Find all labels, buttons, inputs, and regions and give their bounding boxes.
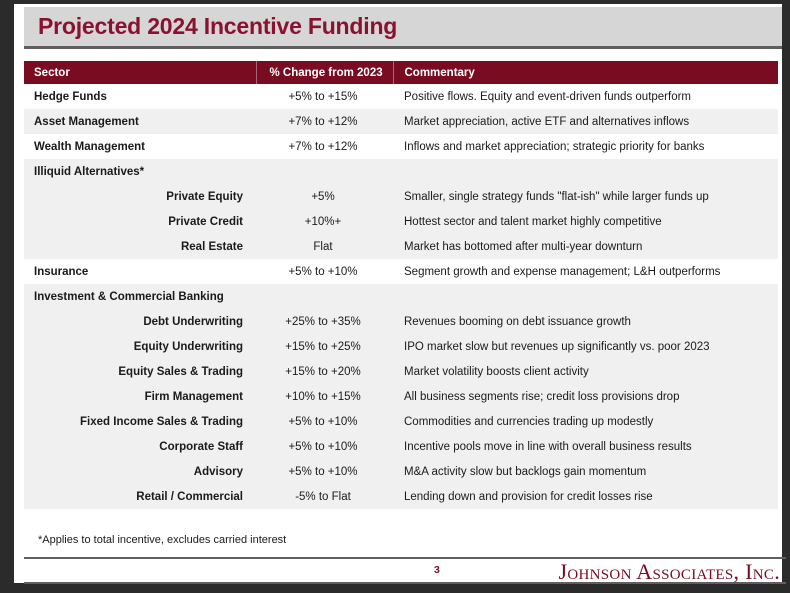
sector-label: Real Estate (24, 234, 256, 259)
table-row: Asset Management+7% to +12%Market apprec… (24, 109, 778, 134)
table-row: Investment & Commercial Banking (24, 284, 778, 309)
table-row: Insurance+5% to +10%Segment growth and e… (24, 259, 778, 284)
sector-label: Private Credit (24, 209, 256, 234)
table-row: Illiquid Alternatives* (24, 159, 778, 184)
commentary-text: Smaller, single strategy funds "flat-ish… (393, 184, 778, 209)
page-number: 3 (434, 564, 440, 576)
page-title: Projected 2024 Incentive Funding (38, 13, 397, 40)
change-value: +5% (256, 184, 393, 209)
sector-label: Equity Sales & Trading (24, 359, 256, 384)
commentary-text: Revenues booming on debt issuance growth (393, 309, 778, 334)
table-row: Firm Management+10% to +15%All business … (24, 384, 778, 409)
change-value: +15% to +25% (256, 334, 393, 359)
sector-label: Hedge Funds (24, 84, 256, 109)
change-value: +5% to +10% (256, 409, 393, 434)
change-value (256, 159, 393, 184)
sector-label: Corporate Staff (24, 434, 256, 459)
incentive-funding-table: Sector % Change from 2023 Commentary Hed… (24, 61, 778, 509)
table-header: Sector % Change from 2023 Commentary (24, 61, 778, 84)
slide-canvas: Projected 2024 Incentive Funding Sector … (0, 0, 790, 593)
table-row: Debt Underwriting+25% to +35%Revenues bo… (24, 309, 778, 334)
change-value (256, 284, 393, 309)
sector-label: Debt Underwriting (24, 309, 256, 334)
commentary-text: Positive flows. Equity and event-driven … (393, 84, 778, 109)
commentary-text: Hottest sector and talent market highly … (393, 209, 778, 234)
change-value: Flat (256, 234, 393, 259)
table-row: Equity Underwriting+15% to +25%IPO marke… (24, 334, 778, 359)
sector-label: Private Equity (24, 184, 256, 209)
sector-label: Firm Management (24, 384, 256, 409)
table-body: Hedge Funds+5% to +15%Positive flows. Eq… (24, 84, 778, 509)
sector-group-label: Investment & Commercial Banking (24, 284, 256, 309)
sector-label: Fixed Income Sales & Trading (24, 409, 256, 434)
commentary-text: M&A activity slow but backlogs gain mome… (393, 459, 778, 484)
sector-label: Insurance (24, 259, 256, 284)
commentary-text: Commodities and currencies trading up mo… (393, 409, 778, 434)
change-value: +7% to +12% (256, 134, 393, 159)
commentary-text: Incentive pools move in line with overal… (393, 434, 778, 459)
commentary-text: Inflows and market appreciation; strateg… (393, 134, 778, 159)
change-value: +5% to +10% (256, 459, 393, 484)
column-header-change: % Change from 2023 (256, 61, 393, 84)
sector-label: Wealth Management (24, 134, 256, 159)
table-row: Hedge Funds+5% to +15%Positive flows. Eq… (24, 84, 778, 109)
change-value: +10%+ (256, 209, 393, 234)
change-value: +10% to +15% (256, 384, 393, 409)
sector-group-label: Illiquid Alternatives* (24, 159, 256, 184)
footnote: *Applies to total incentive, excludes ca… (38, 534, 286, 546)
commentary-text: IPO market slow but revenues up signific… (393, 334, 778, 359)
slide-title-band: Projected 2024 Incentive Funding (24, 7, 782, 49)
change-value: +5% to +10% (256, 259, 393, 284)
commentary-text: Lending down and provision for credit lo… (393, 484, 778, 509)
commentary-text: Market has bottomed after multi-year dow… (393, 234, 778, 259)
change-value: +5% to +15% (256, 84, 393, 109)
change-value: +15% to +20% (256, 359, 393, 384)
commentary-text: Segment growth and expense management; L… (393, 259, 778, 284)
incentive-funding-table-container: Sector % Change from 2023 Commentary Hed… (24, 61, 778, 509)
table-row: Private Equity+5%Smaller, single strateg… (24, 184, 778, 209)
table-row: Corporate Staff+5% to +10%Incentive pool… (24, 434, 778, 459)
sector-label: Asset Management (24, 109, 256, 134)
table-row: Private Credit+10%+Hottest sector and ta… (24, 209, 778, 234)
footer-divider-bottom (24, 582, 786, 584)
table-row: Fixed Income Sales & Trading+5% to +10%C… (24, 409, 778, 434)
sector-label: Retail / Commercial (24, 484, 256, 509)
column-header-sector: Sector (24, 61, 256, 84)
commentary-text: All business segments rise; credit loss … (393, 384, 778, 409)
commentary-text: Market appreciation, active ETF and alte… (393, 109, 778, 134)
commentary-text (393, 159, 778, 184)
table-row: Real EstateFlatMarket has bottomed after… (24, 234, 778, 259)
commentary-text (393, 284, 778, 309)
table-row: Retail / Commercial-5% to FlatLending do… (24, 484, 778, 509)
commentary-text: Market volatility boosts client activity (393, 359, 778, 384)
table-row: Wealth Management+7% to +12%Inflows and … (24, 134, 778, 159)
table-row: Equity Sales & Trading+15% to +20%Market… (24, 359, 778, 384)
column-header-commentary: Commentary (393, 61, 778, 84)
table-header-row: Sector % Change from 2023 Commentary (24, 61, 778, 84)
change-value: +5% to +10% (256, 434, 393, 459)
sector-label: Advisory (24, 459, 256, 484)
slide-footer: 3 Johnson Associates, Inc. (24, 559, 786, 583)
change-value: -5% to Flat (256, 484, 393, 509)
sector-label: Equity Underwriting (24, 334, 256, 359)
table-row: Advisory+5% to +10%M&A activity slow but… (24, 459, 778, 484)
change-value: +7% to +12% (256, 109, 393, 134)
change-value: +25% to +35% (256, 309, 393, 334)
